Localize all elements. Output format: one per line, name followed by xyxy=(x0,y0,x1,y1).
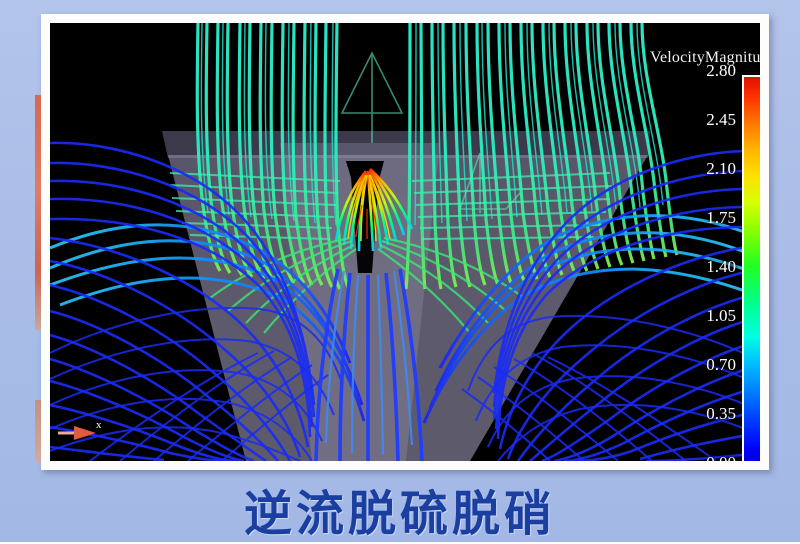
streamline-plot xyxy=(50,23,760,461)
cfd-render-canvas xyxy=(50,23,760,461)
figure-frame: VelocityMagnitude 2.80 2.45 2.10 1.75 1.… xyxy=(41,14,769,470)
scan-artifact-strip xyxy=(35,95,41,330)
x-axis-arrow-icon xyxy=(56,419,116,445)
scan-artifact-strip-lower xyxy=(35,400,41,462)
slide-caption: 逆流脱硫脱硝 xyxy=(0,474,800,544)
axis-label-x: x xyxy=(96,419,102,431)
cfd-visualization: VelocityMagnitude 2.80 2.45 2.10 1.75 1.… xyxy=(50,23,760,461)
axis-orientation-indicator: x xyxy=(56,419,116,445)
presentation-slide: VelocityMagnitude 2.80 2.45 2.10 1.75 1.… xyxy=(0,0,800,542)
